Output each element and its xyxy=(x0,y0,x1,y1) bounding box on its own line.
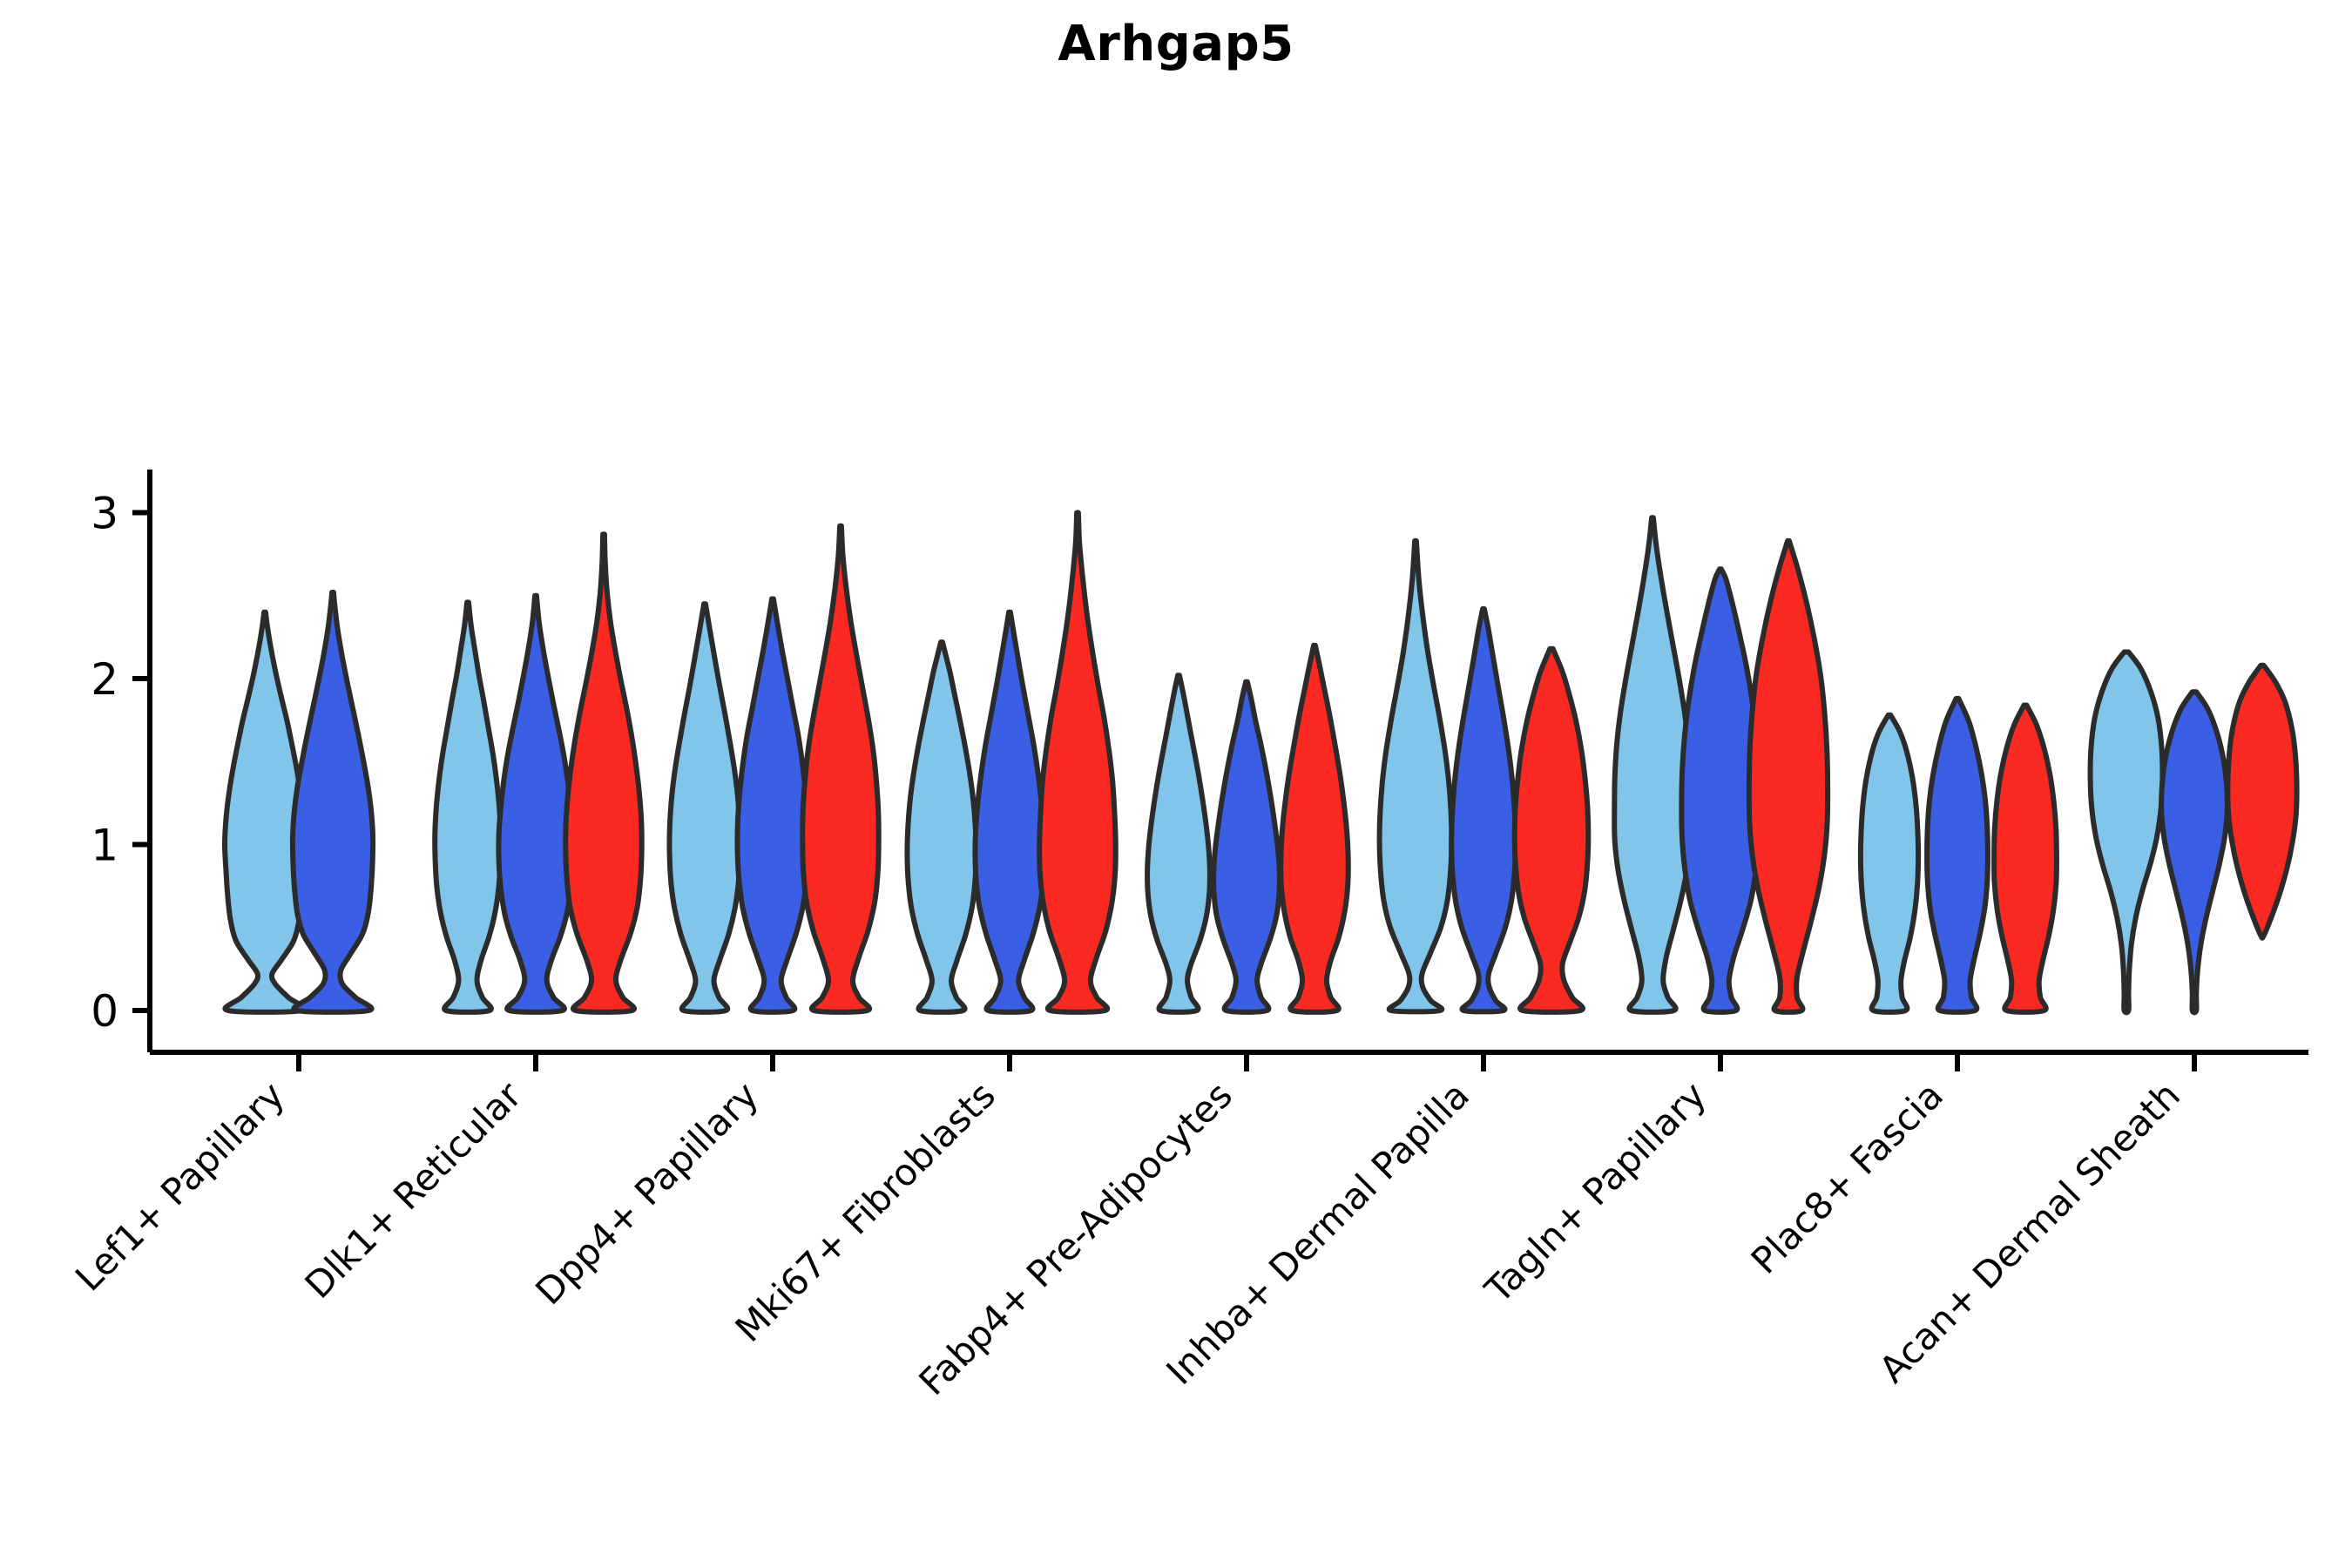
violins-layer xyxy=(225,513,2297,1013)
y-tick-label: 3 xyxy=(91,489,118,539)
violin-shape xyxy=(498,596,572,1012)
violin-shape xyxy=(1994,705,2057,1011)
violin-shape xyxy=(1927,699,1988,1012)
violin-shape xyxy=(565,534,642,1012)
violin-shape xyxy=(975,612,1044,1012)
violin-shape xyxy=(1749,541,1828,1012)
y-tick-labels: 0123 xyxy=(91,489,118,1037)
x-tick-label: Plac8+ Fascia xyxy=(1743,1073,1951,1281)
violin-shape xyxy=(1515,649,1589,1012)
y-tick-label: 2 xyxy=(91,654,118,705)
violin-shape xyxy=(737,599,808,1012)
x-tick-labels: Lef1+ PapillaryDlk1+ ReticularDpp4+ Papi… xyxy=(67,1073,2188,1403)
x-tick-label: Mki67+ Fibroblasts xyxy=(727,1073,1004,1349)
violin-shape xyxy=(1213,682,1280,1012)
violin-shape xyxy=(907,642,976,1012)
violin-shape xyxy=(293,592,373,1012)
x-tick-label: Tagln+ Papillary xyxy=(1477,1073,1714,1311)
violin-shape xyxy=(1380,541,1452,1012)
x-tick-label: Dpp4+ Papillary xyxy=(527,1073,767,1313)
x-tick-label: Lef1+ Papillary xyxy=(67,1073,293,1299)
violin-shape xyxy=(802,526,878,1012)
x-tick-label: Dlk1+ Reticular xyxy=(297,1073,531,1307)
violin-shape xyxy=(1861,715,1918,1012)
violin-shape xyxy=(1039,513,1116,1012)
violin-chart-svg: 0123 Lef1+ PapillaryDlk1+ ReticularDpp4+… xyxy=(0,0,2352,1568)
violin-shape xyxy=(669,604,740,1012)
y-tick-label: 1 xyxy=(91,821,118,871)
y-tick-label: 0 xyxy=(91,986,118,1037)
violin-shape xyxy=(2091,652,2163,1013)
violin-shape xyxy=(1281,645,1348,1012)
violin-shape xyxy=(1147,675,1210,1012)
violin-shape xyxy=(2161,692,2227,1012)
violin-shape xyxy=(1614,517,1691,1012)
violin-shape xyxy=(435,602,501,1012)
violin-shape xyxy=(2227,666,2296,938)
violin-shape xyxy=(1451,609,1516,1011)
violin-plot-figure: Arhgap5 Expression Level 0123 Lef1+ Papi… xyxy=(0,0,2352,1568)
